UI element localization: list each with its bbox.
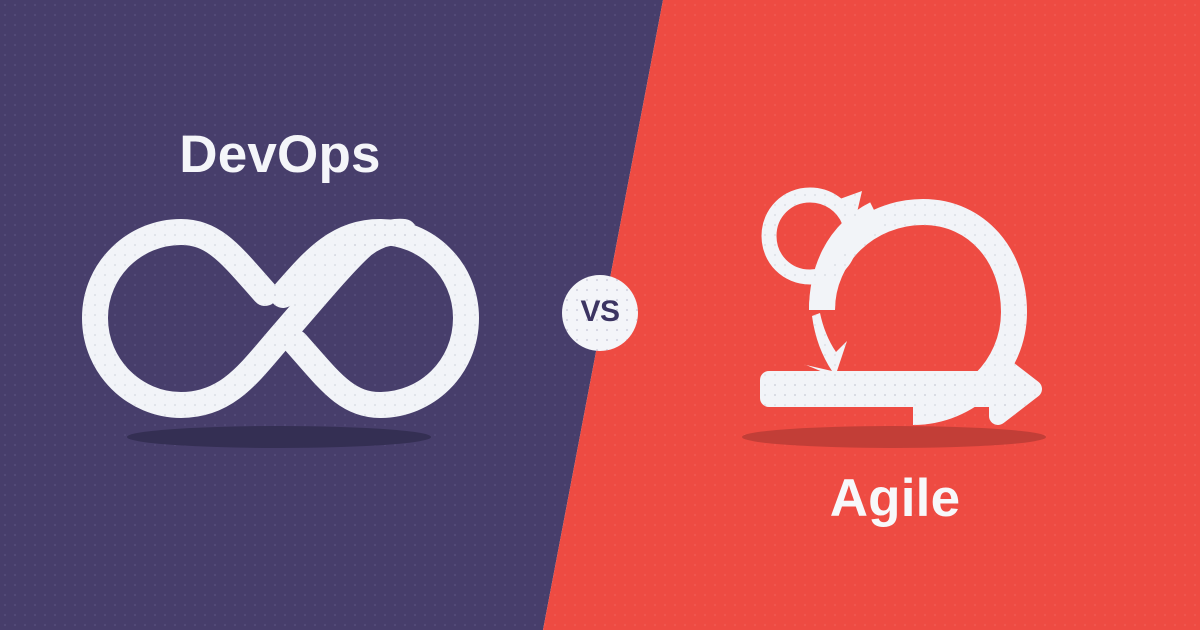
agile-icon-shadow [742, 426, 1046, 448]
agile-title: Agile [640, 472, 1150, 525]
comparison-banner: DevOps Agile VS [0, 0, 1200, 630]
devops-icon-shadow [127, 426, 431, 448]
devops-title: DevOps [0, 128, 560, 181]
vs-badge-label: VS [580, 297, 619, 327]
vs-badge: VS [562, 275, 638, 351]
